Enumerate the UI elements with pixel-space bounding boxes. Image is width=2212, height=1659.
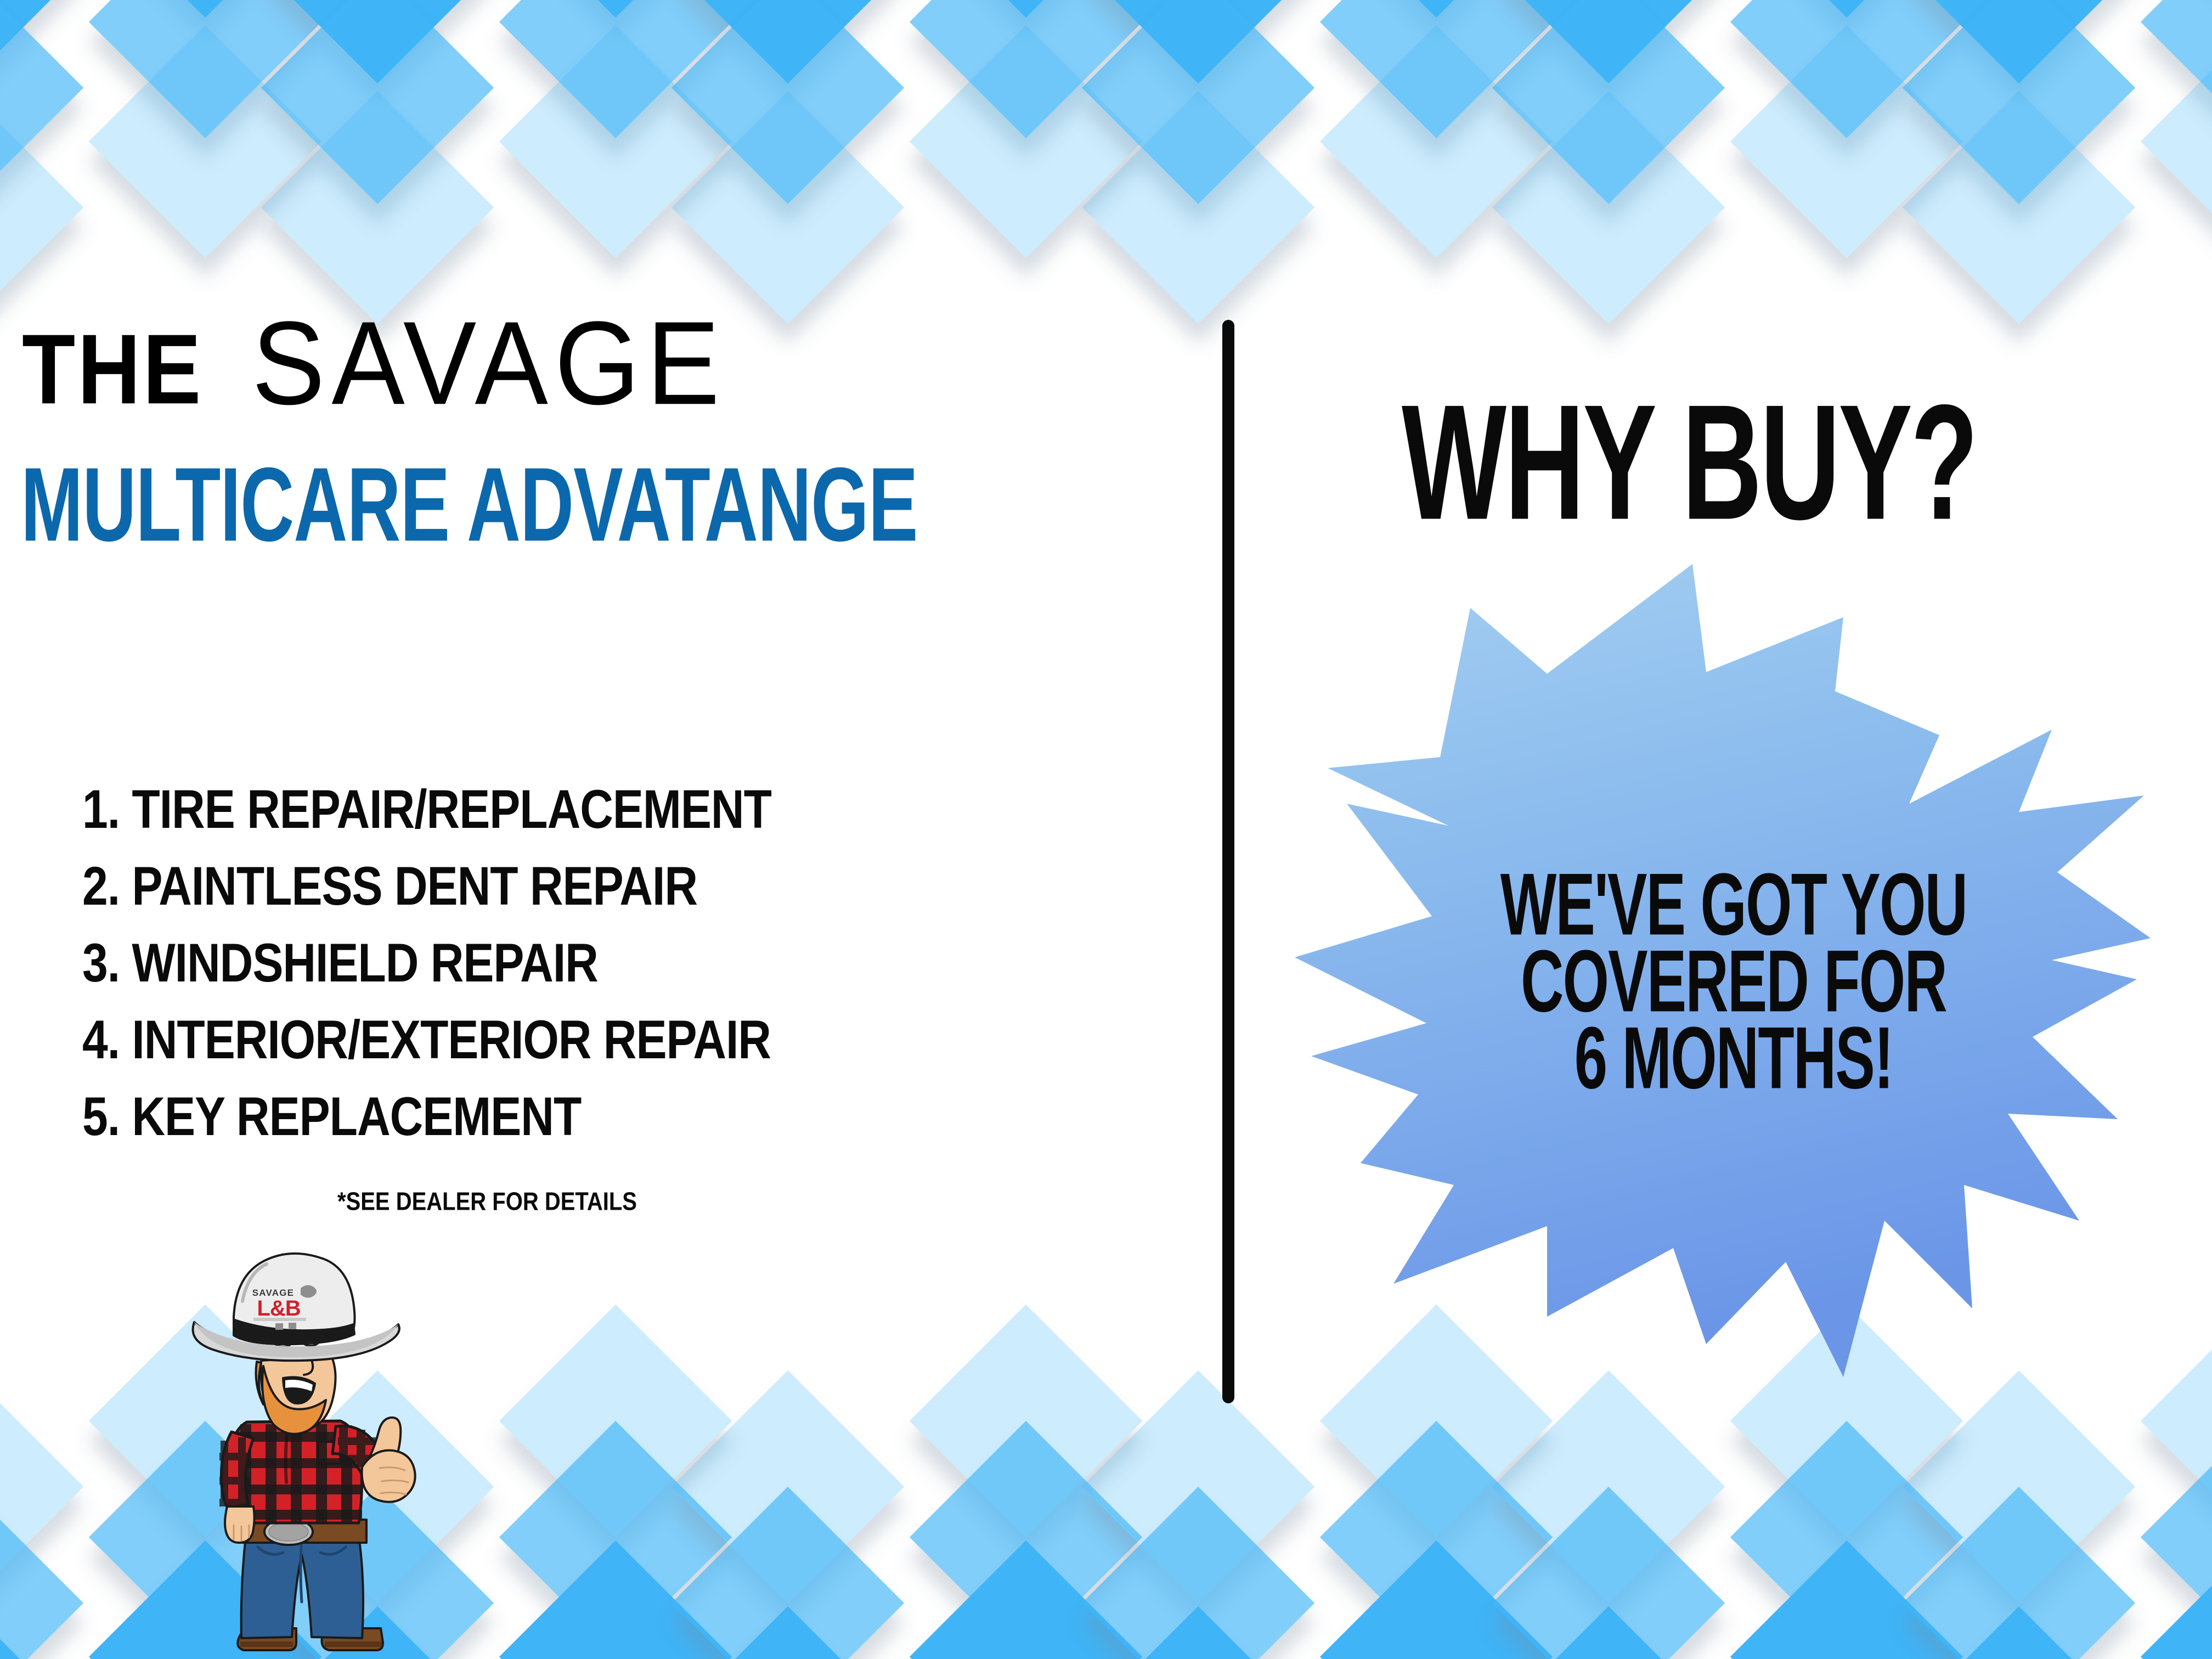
title-word-the: THE <box>22 325 203 415</box>
brand-subtitle: MULTICARE ADVATANGE <box>21 444 917 565</box>
brand-title: THE SAVAGE <box>22 318 726 417</box>
list-item: 1. TIRE REPAIR/REPLACEMENT <box>82 782 771 836</box>
disclaimer-text: *SEE DEALER FOR DETAILS <box>337 1188 637 1216</box>
right-panel: WHY BUY? WE'VE GOT YOU COVERED FOR 6 MON… <box>1234 0 2212 1659</box>
list-item: 2. PAINTLESS DENT REPAIR <box>82 859 771 913</box>
hat-logo-lb-text: L&B <box>257 1296 300 1321</box>
service-list: 1. TIRE REPAIR/REPLACEMENT 2. PAINTLESS … <box>82 782 771 1166</box>
title-word-savage: SAVAGE <box>252 311 726 417</box>
why-buy-headline: WHY BUY? <box>1402 368 1977 557</box>
list-item: 3. WINDSHIELD REPAIR <box>82 935 771 990</box>
starburst-badge: WE'VE GOT YOU COVERED FOR 6 MONTHS! <box>1289 554 2178 1377</box>
cowboy-mascot-icon: SAVAGE L&B <box>181 1251 428 1659</box>
list-item: 4. INTERIOR/EXTERIOR REPAIR <box>82 1012 771 1066</box>
center-divider <box>1222 320 1234 1403</box>
poster-canvas: THE SAVAGE MULTICARE ADVATANGE 1. TIRE R… <box>0 0 2212 1659</box>
list-item: 5. KEY REPLACEMENT <box>82 1089 771 1143</box>
starburst-shape <box>1295 564 2151 1377</box>
